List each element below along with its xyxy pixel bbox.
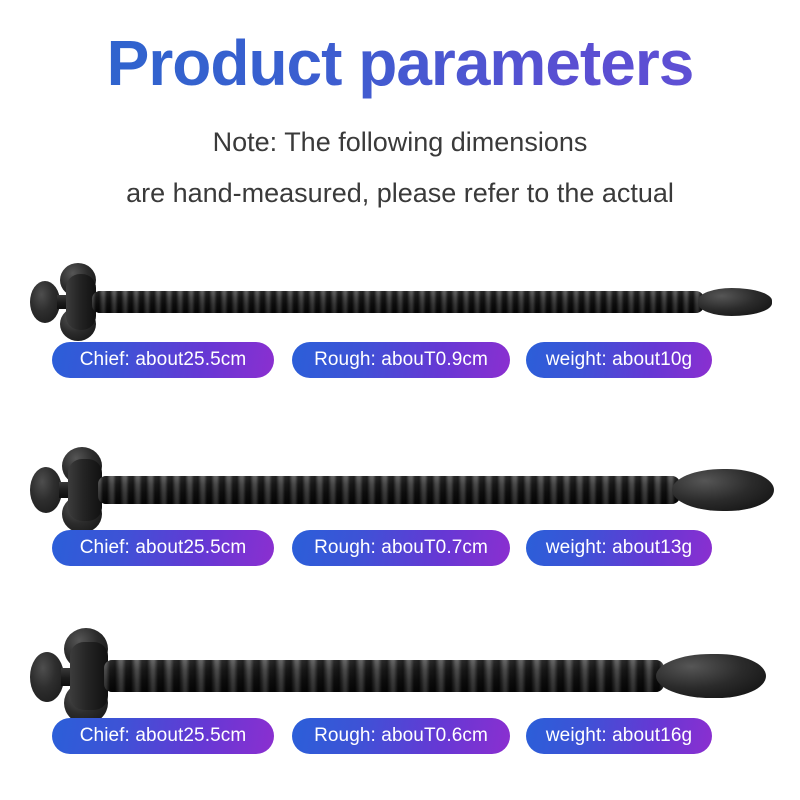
page-title: Product parameters — [0, 26, 800, 100]
length-badge[interactable]: Chief: about25.5cm — [52, 718, 274, 754]
product-row-3 — [0, 622, 800, 714]
note-line-2: are hand-measured, please refer to the a… — [0, 178, 800, 209]
product-row-2 — [0, 437, 800, 529]
beaded-urethral-rod-icon — [0, 622, 800, 714]
end-disc — [30, 652, 64, 702]
product-parameters-page: Product parameters Note: The following d… — [0, 0, 800, 800]
t-anchor-bar — [68, 459, 102, 521]
length-badge[interactable]: Chief: about25.5cm — [52, 342, 274, 378]
weight-badge[interactable]: weight: about10g — [526, 342, 712, 378]
end-disc — [30, 467, 62, 513]
thickness-badge[interactable]: Rough: abouT0.9cm — [292, 342, 510, 378]
rod-tip — [698, 288, 772, 316]
t-anchor-bar — [70, 642, 108, 710]
weight-badge[interactable]: weight: about16g — [526, 718, 712, 754]
thickness-badge[interactable]: Rough: abouT0.6cm — [292, 718, 510, 754]
note-line-1: Note: The following dimensions — [0, 127, 800, 158]
beaded-shaft — [104, 660, 664, 692]
length-badge[interactable]: Chief: about25.5cm — [52, 530, 274, 566]
rod-tip — [656, 654, 766, 698]
beaded-urethral-rod-icon — [0, 250, 800, 342]
beaded-shaft — [98, 476, 680, 504]
thickness-badge[interactable]: Rough: abouT0.7cm — [292, 530, 510, 566]
rod-tip — [672, 469, 774, 511]
weight-badge[interactable]: weight: about13g — [526, 530, 712, 566]
end-disc — [30, 281, 60, 323]
product-row-1 — [0, 250, 800, 342]
beaded-urethral-rod-icon — [0, 437, 800, 529]
beaded-shaft — [92, 291, 704, 313]
